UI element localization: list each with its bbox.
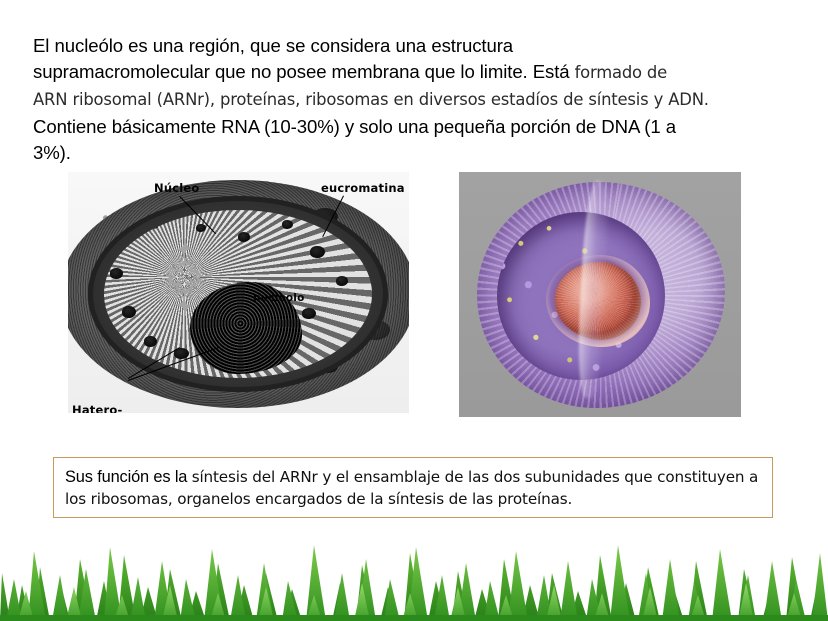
paragraph-word: se	[286, 35, 305, 56]
grass-decoration	[0, 529, 828, 621]
paragraph-segment-secondary: formado de	[575, 63, 667, 82]
paragraph-word: es	[128, 35, 147, 56]
paragraph-line-4: Contiene básicamente RNA (10-30%) y solo…	[33, 114, 793, 140]
paragraph-word: diversos	[419, 90, 486, 109]
micrograph-nucleoplasm	[104, 210, 372, 378]
micrograph-label-heterocromatina-line1: Hatero-	[72, 404, 148, 413]
paragraph-word: proteínas,	[220, 90, 300, 109]
paragraph-word: una	[153, 35, 184, 56]
paragraph-word: estadíos	[491, 90, 558, 109]
paragraph-word: considera	[311, 35, 391, 56]
micrograph-heterochromatin-blob	[196, 224, 206, 232]
paragraph-word: ribosomas	[305, 90, 388, 109]
paragraph-line-5: 3%).	[33, 140, 793, 166]
micrograph-label-heterocromatina: Hatero- chromatina	[72, 380, 148, 413]
paragraph-word: que	[250, 35, 281, 56]
micrograph-heterochromatin-blob	[302, 308, 316, 319]
paragraph-word: en	[394, 90, 414, 109]
paragraph-segment-primary: Contiene básicamente RNA (10-30%) y solo…	[33, 116, 676, 137]
paragraph-segment-primary: supramacromolecular que no posee membran…	[33, 61, 575, 82]
micrograph-heterochromatin-blob	[148, 220, 159, 229]
micrograph-heterochromatin-blob	[144, 336, 157, 347]
paragraph-word: ARN	[33, 90, 67, 109]
micrograph-label-eucromatina: eucromatina	[321, 182, 405, 194]
paragraph-word: estructura	[431, 35, 513, 56]
micrograph-heterochromatin-blob	[110, 268, 123, 279]
nucleus-electron-micrograph: Núcleo eucromatina nucleolo Hatero- chro…	[68, 172, 409, 413]
function-callout-lead: Sus función es la	[65, 468, 192, 486]
micrograph-heterochromatin-blob	[336, 276, 348, 286]
paragraph-segment-primary: 3%).	[33, 142, 71, 163]
grass-svg	[0, 529, 828, 621]
micrograph-heterochromatin-blob	[282, 220, 293, 229]
figure-row: Núcleo eucromatina nucleolo Hatero- chro…	[0, 172, 828, 420]
paragraph-line-3: ARN ribosomal (ARNr), proteínas, ribosom…	[33, 86, 793, 113]
micrograph-heterochromatin-blob	[122, 306, 136, 318]
grass-base-strip	[0, 615, 828, 621]
paragraph-word: una	[395, 35, 426, 56]
slide-canvas: El nucleólo es una región, que se consid…	[0, 0, 828, 621]
paragraph-word: nucleólo	[55, 35, 123, 56]
paragraph-word: ribosomal	[72, 90, 151, 109]
function-callout-box: Sus función es la síntesis del ARNr y el…	[53, 457, 773, 518]
paragraph-line-1: El nucleólo es una región, que se consid…	[33, 33, 793, 59]
micrograph-label-nucleolo: nucleolo	[253, 292, 305, 304]
function-callout-text: Sus función es la síntesis del ARNr y el…	[65, 467, 761, 510]
paragraph-word: de	[563, 90, 583, 109]
paragraph-word: ADN.	[668, 90, 709, 109]
paragraph-word: región,	[189, 35, 245, 56]
micrograph-heterochromatin-blob	[310, 246, 325, 258]
paragraph-line-2: supramacromolecular que no posee membran…	[33, 59, 793, 86]
nucleus-3d-illustration	[459, 172, 741, 417]
micrograph-label-nucleo: Núcleo	[154, 182, 199, 194]
micrograph-heterochromatin-blob	[114, 234, 130, 247]
paragraph-word: síntesis	[588, 90, 648, 109]
micrograph-heterochromatin-blob	[238, 232, 250, 242]
paragraph-word: y	[654, 90, 664, 109]
paragraph-word: El	[33, 35, 49, 56]
paragraph-word: (ARNr),	[157, 90, 215, 109]
intro-paragraph: El nucleólo es una región, que se consid…	[33, 33, 793, 166]
